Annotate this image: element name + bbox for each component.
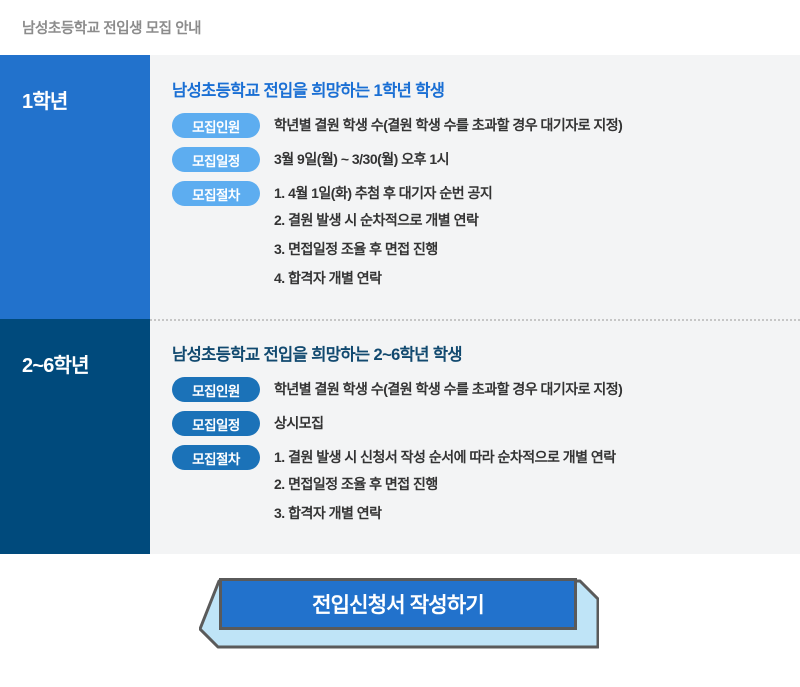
grade-1-capacity-row: 모집인원 학년별 결원 학생 수(결원 학생 수를 초과할 경우 대기자로 지정… (172, 113, 782, 138)
list-item: 4. 합격자 개별 연락 (274, 264, 492, 293)
grade-1-label: 1학년 (22, 85, 68, 114)
grade-1-schedule-value: 3월 9일(월) ~ 3/30(월) 오후 1시 (274, 147, 449, 172)
grade-1-capacity-value: 학년별 결원 학생 수(결원 학생 수를 초과할 경우 대기자로 지정) (274, 113, 622, 138)
grade-2-6-heading: 남성초등학교 전입을 희망하는 2~6학년 학생 (172, 341, 782, 365)
grade-2-6-schedule-pill: 모집일정 (172, 411, 260, 436)
page-title: 남성초등학교 전입생 모집 안내 (22, 17, 201, 38)
grade-1-procedure-row: 모집절차 1. 4월 1일(화) 추첨 후 대기자 순번 공지 2. 결원 발생… (172, 181, 782, 293)
grade-1-procedure-pill: 모집절차 (172, 181, 260, 206)
grade-2-6-procedure-list: 1. 결원 발생 시 신청서 작성 순서에 따라 순차적으로 개별 연락 2. … (274, 445, 616, 528)
grade-2-6-procedure-pill: 모집절차 (172, 445, 260, 470)
apply-button-wrap: 전입신청서 작성하기 (199, 578, 599, 650)
cta-area: 전입신청서 작성하기 (0, 554, 800, 671)
grade-2-6-capacity-value: 학년별 결원 학생 수(결원 학생 수를 초과할 경우 대기자로 지정) (274, 377, 622, 402)
list-item: 3. 합격자 개별 연락 (274, 499, 616, 528)
list-item: 3. 면접일정 조율 후 면접 진행 (274, 235, 492, 264)
grade-1-capacity-pill: 모집인원 (172, 113, 260, 138)
grade-1-procedure-list: 1. 4월 1일(화) 추첨 후 대기자 순번 공지 2. 결원 발생 시 순차… (274, 181, 492, 293)
section-grade-1: 1학년 남성초등학교 전입을 희망하는 1학년 학생 모집인원 학년별 결원 학… (0, 55, 800, 319)
grade-2-6-badge: 2~6학년 (0, 319, 150, 554)
list-item: 1. 4월 1일(화) 추첨 후 대기자 순번 공지 (274, 181, 492, 206)
apply-button[interactable]: 전입신청서 작성하기 (219, 578, 577, 630)
grade-2-6-label: 2~6학년 (22, 349, 89, 378)
grade-1-schedule-pill: 모집일정 (172, 147, 260, 172)
section-divider (150, 319, 800, 321)
grade-1-schedule-row: 모집일정 3월 9일(월) ~ 3/30(월) 오후 1시 (172, 147, 782, 172)
list-item: 2. 결원 발생 시 순차적으로 개별 연락 (274, 206, 492, 235)
list-item: 1. 결원 발생 시 신청서 작성 순서에 따라 순차적으로 개별 연락 (274, 445, 616, 470)
section-grade-2-6: 2~6학년 남성초등학교 전입을 희망하는 2~6학년 학생 모집인원 학년별 … (0, 319, 800, 554)
grade-1-heading: 남성초등학교 전입을 희망하는 1학년 학생 (172, 77, 782, 101)
grade-2-6-capacity-pill: 모집인원 (172, 377, 260, 402)
grade-2-6-procedure-row: 모집절차 1. 결원 발생 시 신청서 작성 순서에 따라 순차적으로 개별 연… (172, 445, 782, 528)
grade-2-6-schedule-row: 모집일정 상시모집 (172, 411, 782, 436)
grade-1-content: 남성초등학교 전입을 희망하는 1학년 학생 모집인원 학년별 결원 학생 수(… (150, 55, 800, 319)
grade-sections: 1학년 남성초등학교 전입을 희망하는 1학년 학생 모집인원 학년별 결원 학… (0, 55, 800, 554)
page-header: 남성초등학교 전입생 모집 안내 (0, 0, 800, 55)
grade-2-6-capacity-row: 모집인원 학년별 결원 학생 수(결원 학생 수를 초과할 경우 대기자로 지정… (172, 377, 782, 402)
grade-1-badge: 1학년 (0, 55, 150, 319)
list-item: 2. 면접일정 조율 후 면접 진행 (274, 470, 616, 499)
apply-button-label: 전입신청서 작성하기 (312, 589, 484, 619)
grade-2-6-content: 남성초등학교 전입을 희망하는 2~6학년 학생 모집인원 학년별 결원 학생 … (150, 319, 800, 554)
grade-2-6-schedule-value: 상시모집 (274, 411, 324, 436)
